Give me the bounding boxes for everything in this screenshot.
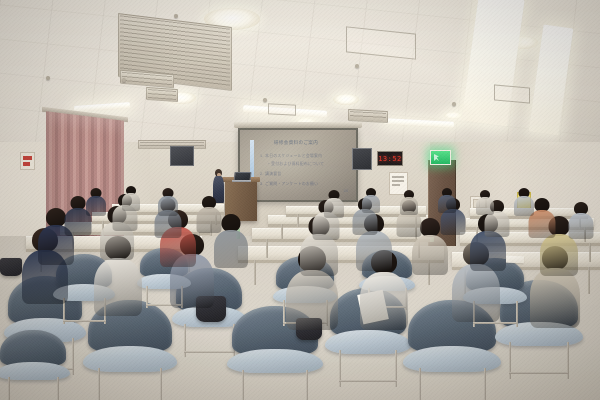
audience-member bbox=[122, 186, 140, 213]
audience-member bbox=[568, 202, 593, 241]
audience-member bbox=[400, 190, 418, 217]
audience-body bbox=[122, 193, 140, 211]
chair-leg-rail bbox=[184, 351, 234, 353]
audience-body bbox=[286, 270, 338, 330]
audience-member bbox=[476, 190, 494, 217]
audience-body bbox=[158, 196, 178, 216]
slide-bullet-2: ・受付および資料配布について bbox=[267, 162, 324, 167]
stacking-chair bbox=[0, 330, 66, 400]
table-leg bbox=[266, 239, 268, 258]
chair-leg-right bbox=[160, 368, 162, 400]
audience-body bbox=[476, 197, 494, 215]
audience-member bbox=[514, 188, 534, 218]
slide-bullet-1: 1. 本日のスケジュールと会場案内 bbox=[260, 154, 322, 159]
slide-bullet-3: 2. 講演要旨 bbox=[260, 172, 282, 177]
ceiling-downlight bbox=[444, 112, 462, 119]
sprinkler-head bbox=[452, 102, 456, 106]
digital-clock: 13:52 bbox=[377, 151, 403, 166]
audience-body bbox=[400, 197, 418, 215]
sprinkler-head bbox=[46, 76, 50, 80]
clock-time: 13:52 bbox=[378, 155, 402, 163]
sprinkler-head bbox=[174, 14, 178, 18]
slide-bullet-4: 3. ご質問・アンケートのお願い bbox=[260, 182, 318, 187]
audience-member bbox=[324, 190, 344, 220]
audience-body bbox=[362, 195, 380, 213]
chair-seat bbox=[403, 346, 502, 372]
table-leg bbox=[254, 260, 256, 285]
ceiling-air-vent bbox=[146, 87, 178, 102]
ceiling-access-hatch bbox=[268, 103, 296, 115]
chair-leg-right bbox=[306, 370, 308, 400]
vent-slats bbox=[148, 89, 176, 100]
presenter-laptop bbox=[232, 172, 251, 182]
sprinkler-head bbox=[355, 64, 359, 68]
table-leg bbox=[588, 267, 590, 294]
handout-paper bbox=[506, 256, 524, 264]
audience-body bbox=[94, 258, 142, 316]
laptop-base bbox=[232, 180, 251, 182]
ceiling-downlight bbox=[333, 94, 359, 105]
ceiling-access-hatch bbox=[494, 84, 530, 103]
audience-member bbox=[438, 188, 456, 215]
wall-speaker-panel bbox=[170, 146, 194, 166]
chair-backrest bbox=[0, 330, 66, 366]
audience-body bbox=[196, 207, 221, 233]
attendee-bag bbox=[0, 258, 22, 276]
audience-member bbox=[362, 188, 380, 215]
chair-leg-left bbox=[98, 368, 100, 400]
audience-body bbox=[412, 235, 448, 275]
table-leg bbox=[589, 243, 591, 262]
sprinkler-head bbox=[263, 98, 267, 102]
chair-leg-right bbox=[57, 377, 59, 400]
slide-title: 研修会資料のご案内 bbox=[274, 140, 318, 146]
audience-body bbox=[438, 195, 456, 213]
vent-slats bbox=[122, 72, 172, 86]
audience-body bbox=[214, 230, 248, 268]
chair-leg-rail bbox=[509, 372, 568, 374]
chair-leg-rail bbox=[63, 320, 106, 322]
ceiling-air-vent bbox=[348, 109, 388, 123]
audience-body bbox=[360, 272, 408, 330]
table-edge bbox=[252, 239, 432, 242]
seminar-room-photo: 研修会資料のご案内 1. 本日のスケジュールと会場案内 ・受付および資料配布につ… bbox=[0, 0, 600, 400]
chair-leg-left bbox=[8, 377, 10, 400]
audience-member bbox=[196, 196, 221, 235]
chair-leg-right bbox=[484, 368, 486, 400]
emergency-exit-icon bbox=[430, 150, 451, 165]
audience-member bbox=[86, 188, 106, 218]
audience-body bbox=[324, 198, 344, 218]
chair-seat bbox=[0, 362, 70, 380]
audience-body bbox=[356, 231, 392, 271]
chair-leg-rail bbox=[339, 380, 397, 382]
chair-leg-left bbox=[419, 368, 421, 400]
audience-member bbox=[158, 188, 178, 218]
audience-body bbox=[568, 213, 593, 239]
audience-body bbox=[86, 196, 106, 216]
table-leg bbox=[297, 214, 299, 227]
table-leg bbox=[281, 224, 283, 239]
wall-mounted-monitor bbox=[352, 148, 372, 170]
chair-leg-left bbox=[242, 370, 244, 400]
vent-slats bbox=[350, 111, 386, 121]
fire-extinguisher-sign bbox=[20, 152, 35, 170]
sprinkler-head bbox=[122, 78, 126, 82]
audience-body bbox=[514, 196, 534, 216]
